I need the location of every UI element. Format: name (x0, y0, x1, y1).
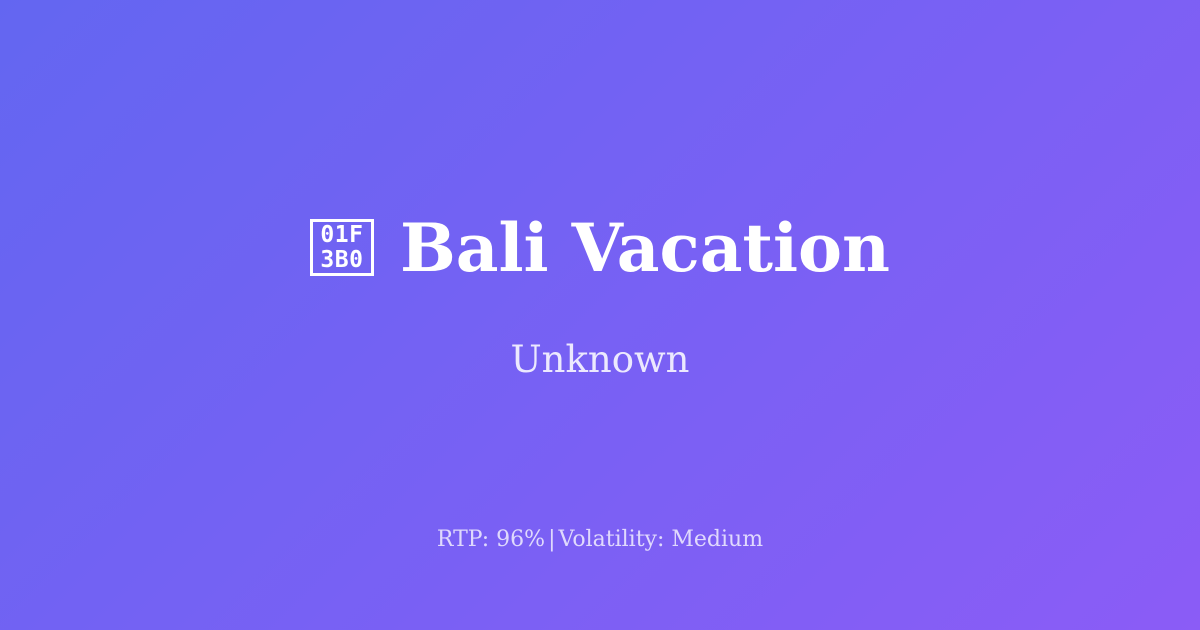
og-card: 01F 3B0 Bali Vacation Unknown RTP: 96%|V… (0, 0, 1200, 630)
slot-machine-icon-codepoint-top: 01F (320, 223, 363, 248)
title-row: 01F 3B0 Bali Vacation (310, 215, 890, 281)
slot-machine-icon-codepoint-bottom: 3B0 (320, 248, 363, 273)
meta-separator: | (545, 527, 558, 552)
rtp-value: RTP: 96% (437, 527, 545, 552)
game-provider-subtitle: Unknown (510, 341, 689, 378)
volatility-value: Volatility: Medium (559, 527, 764, 552)
page-title: Bali Vacation (400, 215, 890, 281)
slot-machine-icon: 01F 3B0 (310, 219, 374, 276)
game-meta: RTP: 96%|Volatility: Medium (0, 529, 1200, 551)
